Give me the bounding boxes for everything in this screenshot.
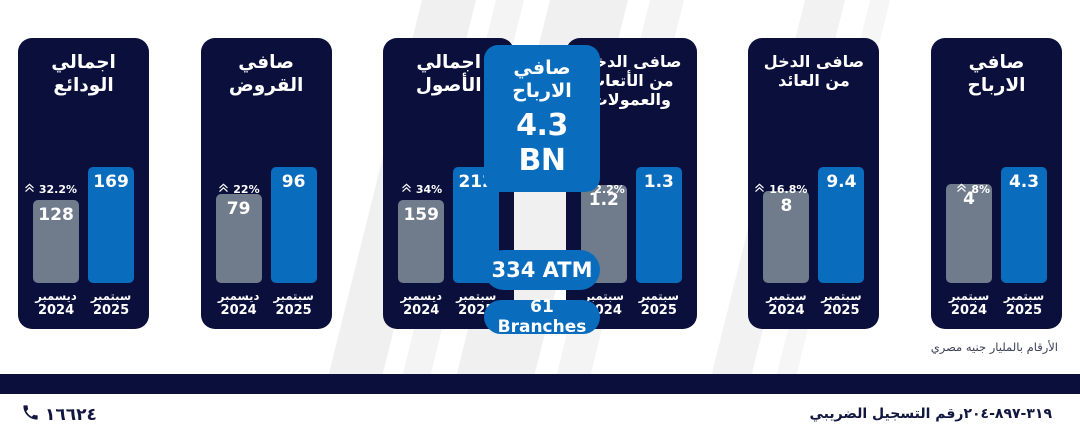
bar-column-previous: 16.8%8سبتمبر2024 — [763, 167, 809, 319]
growth-percent: 34% — [416, 183, 442, 196]
bar-current: 96 — [271, 167, 317, 283]
metric-card-title: اجماليالودائع — [25, 52, 143, 97]
bar-column-previous: 22%79ديسمبر2024 — [216, 167, 262, 319]
growth-indicator: 22% — [217, 181, 259, 197]
bar-label-previous: ديسمبر2024 — [400, 289, 441, 319]
bar-year-current: 2025 — [821, 303, 861, 319]
bar-column-previous: 34%159ديسمبر2024 — [398, 167, 444, 319]
double-chevron-up-icon — [753, 181, 766, 197]
double-chevron-up-icon — [955, 181, 968, 197]
atm-count-pill: 334 ATM — [484, 250, 600, 290]
bar-current: 1.3 — [636, 167, 682, 283]
bar-previous: 79 — [216, 194, 262, 283]
bar-year-previous: 2024 — [949, 303, 989, 319]
metric-card: صافيالقروض22%79ديسمبر202496سبتمبر2025 — [201, 38, 332, 329]
double-chevron-up-icon — [400, 181, 413, 197]
metric-card-title: صافى الدخلمن العائد — [755, 52, 873, 90]
metric-bar-chart: 16.8%8سبتمبر20249.4سبتمبر2025 — [748, 167, 879, 319]
double-chevron-up-icon — [23, 181, 36, 197]
bar-label-current: سبتمبر2025 — [821, 289, 861, 319]
branches-count-pill: 61 Branches — [484, 300, 600, 334]
bar-label-previous: سبتمبر2024 — [949, 289, 989, 319]
bar-month-current: سبتمبر — [639, 289, 679, 303]
units-footnote: الأرقام بالمليار جنيه مصري — [931, 340, 1058, 354]
bar-month-current: سبتمبر — [274, 289, 314, 303]
bar-year-previous: 2024 — [35, 303, 76, 319]
bar-month-current: سبتمبر — [1004, 289, 1044, 303]
bar-month-previous: سبتمبر — [766, 289, 806, 303]
bar-column-current: 1.3سبتمبر2025 — [636, 167, 682, 319]
bar-previous: 8 — [763, 191, 809, 283]
bar-column-current: 4.3سبتمبر2025 — [1001, 167, 1047, 319]
metric-bar-chart: 22%79ديسمبر202496سبتمبر2025 — [201, 167, 332, 319]
bar-year-previous: 2024 — [218, 303, 259, 319]
metric-card: اجماليالودائع32.2%128ديسمبر2024169سبتمبر… — [18, 38, 149, 329]
bar-previous: 128 — [33, 200, 79, 283]
bar-year-current: 2025 — [1004, 303, 1044, 319]
navy-divider-bar — [0, 374, 1080, 394]
bar-column-previous: 8%4سبتمبر2024 — [946, 167, 992, 319]
growth-indicator: 8% — [955, 181, 990, 197]
bar-label-current: سبتمبر2025 — [91, 289, 131, 319]
growth-percent: 16.8% — [769, 183, 807, 196]
net-profit-highlight-value: 4.3 BN — [490, 108, 594, 178]
growth-percent: 32.2% — [39, 183, 77, 196]
hotline[interactable]: ١٦٦٢٤ — [22, 404, 97, 426]
metric-card: صافيالارباح8%4سبتمبر20244.3سبتمبر2025 — [931, 38, 1062, 329]
bar-month-previous: ديسمبر — [35, 289, 76, 303]
bar-year-current: 2025 — [274, 303, 314, 319]
hotline-number: ١٦٦٢٤ — [45, 405, 97, 425]
phone-icon — [22, 404, 39, 426]
bar-label-current: سبتمبر2025 — [1004, 289, 1044, 319]
bar-current: 9.4 — [818, 167, 864, 283]
bar-month-previous: سبتمبر — [949, 289, 989, 303]
bar-year-previous: 2024 — [766, 303, 806, 319]
double-chevron-up-icon — [217, 181, 230, 197]
net-profit-highlight-card: صافيالارباح 4.3 BN — [484, 45, 600, 192]
metric-bar-chart: 32.2%128ديسمبر2024169سبتمبر2025 — [18, 167, 149, 319]
bar-column-previous: 32.2%128ديسمبر2024 — [33, 167, 79, 319]
metric-card: صافى الدخلمن العائد16.8%8سبتمبر20249.4سب… — [748, 38, 879, 329]
bar-month-previous: ديسمبر — [218, 289, 259, 303]
net-profit-highlight-title: صافيالارباح — [490, 57, 594, 103]
bar-month-current: سبتمبر — [91, 289, 131, 303]
footer: ٣١٩-٨٩٧-٢٠٤رقم التسجيل الضريبي ١٦٦٢٤ — [0, 394, 1080, 441]
bar-label-current: سبتمبر2025 — [639, 289, 679, 319]
bar-label-current: سبتمبر2025 — [274, 289, 314, 319]
bar-month-current: سبتمبر — [821, 289, 861, 303]
bar-label-previous: سبتمبر2024 — [766, 289, 806, 319]
tax-registration: ٣١٩-٨٩٧-٢٠٤رقم التسجيل الضريبي — [809, 406, 1058, 422]
bar-label-previous: ديسمبر2024 — [218, 289, 259, 319]
growth-indicator: 32.2% — [23, 181, 77, 197]
tax-registration-label: رقم التسجيل الضريبي — [809, 406, 963, 422]
bar-column-current: 9.4سبتمبر2025 — [818, 167, 864, 319]
bar-current: 169 — [88, 167, 134, 283]
bar-column-current: 96سبتمبر2025 — [271, 167, 317, 319]
growth-indicator: 16.8% — [753, 181, 807, 197]
infographic-stage: اجماليالودائع32.2%128ديسمبر2024169سبتمبر… — [0, 0, 1080, 441]
bar-year-current: 2025 — [91, 303, 131, 319]
tax-registration-number: ٣١٩-٨٩٧-٢٠٤ — [963, 406, 1052, 422]
metric-card-title: صافيالقروض — [207, 52, 325, 97]
bar-column-current: 169سبتمبر2025 — [88, 167, 134, 319]
growth-percent: 22% — [233, 183, 259, 196]
highlight-column: صافيالارباح 4.3 BN 334 ATM 61 Branches — [484, 45, 600, 334]
bar-current: 4.3 — [1001, 167, 1047, 283]
metric-bar-chart: 8%4سبتمبر20244.3سبتمبر2025 — [931, 167, 1062, 319]
growth-percent: 8% — [971, 183, 990, 196]
bar-previous: 159 — [398, 200, 444, 283]
metric-card-title: صافيالارباح — [938, 52, 1056, 97]
bar-month-previous: ديسمبر — [400, 289, 441, 303]
bar-year-previous: 2024 — [400, 303, 441, 319]
bar-previous: 4 — [946, 184, 992, 283]
bar-label-previous: ديسمبر2024 — [35, 289, 76, 319]
growth-indicator: 34% — [400, 181, 442, 197]
bar-year-current: 2025 — [639, 303, 679, 319]
